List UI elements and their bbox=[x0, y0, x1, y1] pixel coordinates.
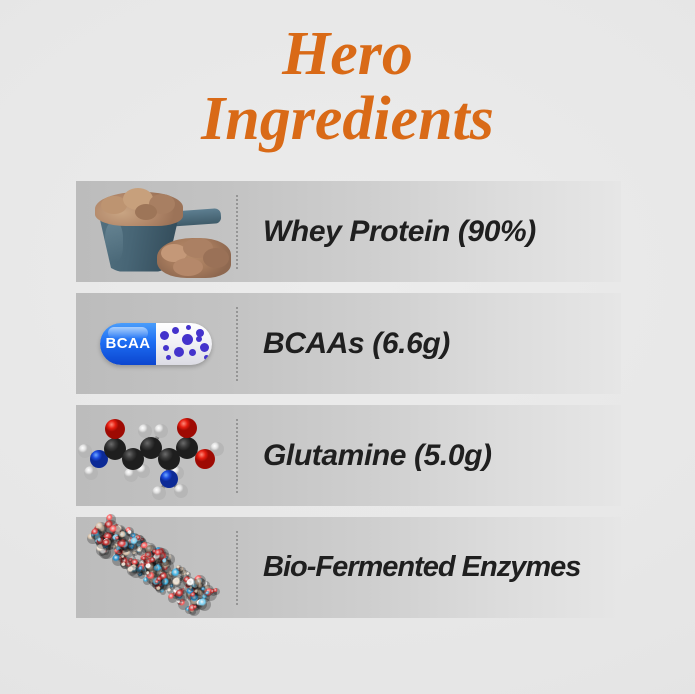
capsule-label: BCAA bbox=[106, 335, 151, 352]
protein-scoop-icon bbox=[76, 181, 236, 282]
list-item-label: BCAAs (6.6g) bbox=[238, 327, 621, 361]
list-item[interactable]: Bio-Fermented Enzymes bbox=[76, 517, 621, 618]
row-divider bbox=[236, 419, 238, 493]
row-divider bbox=[236, 195, 238, 269]
row-divider bbox=[236, 307, 238, 381]
page-title: Hero Ingredients bbox=[0, 24, 695, 150]
glutamine-molecule-icon bbox=[76, 405, 236, 506]
hero-ingredients-poster: Hero Ingredients Whey Protein (90%) bbox=[0, 0, 695, 694]
list-item[interactable]: Whey Protein (90%) bbox=[76, 181, 621, 282]
page-title-line-1: Hero bbox=[0, 24, 695, 85]
list-item[interactable]: BCAA BCAAs (6.6g) bbox=[76, 293, 621, 394]
enzyme-model-icon bbox=[76, 517, 236, 618]
list-item-label: Glutamine (5.0g) bbox=[238, 439, 621, 473]
ingredient-list: Whey Protein (90%) BCAA BCAAs (6.6g) bbox=[76, 181, 621, 618]
list-item[interactable]: Glutamine (5.0g) bbox=[76, 405, 621, 506]
list-item-label: Bio-Fermented Enzymes bbox=[238, 551, 621, 584]
list-item-label: Whey Protein (90%) bbox=[238, 215, 621, 249]
row-divider bbox=[236, 531, 238, 605]
page-title-line-2: Ingredients bbox=[0, 89, 695, 150]
bcaa-capsule-icon: BCAA bbox=[76, 293, 236, 394]
